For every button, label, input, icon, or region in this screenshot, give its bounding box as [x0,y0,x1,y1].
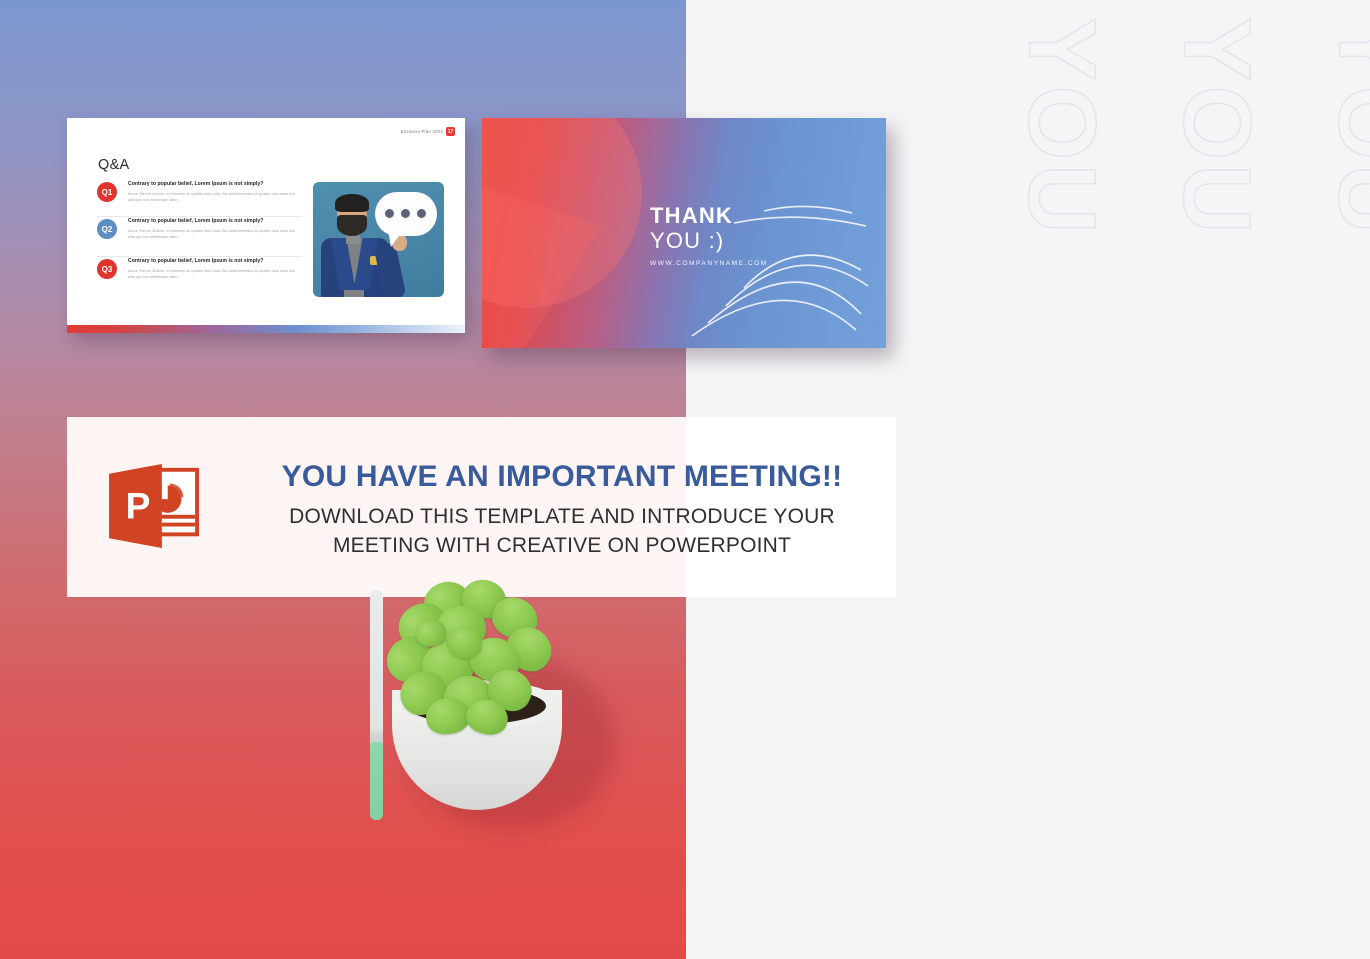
pen-grip [370,742,383,820]
qa-photo [313,182,444,297]
thank-you-line-2: YOU :) [650,229,768,254]
banner-subline-1: DOWNLOAD THIS TEMPLATE AND INTRODUCE YOU… [242,503,882,531]
qa-question: Contrary to popular belief, Lorem Ipsum … [128,258,303,264]
qa-body: Amus. Parum id amur, et hitomed us optat… [128,268,303,281]
watermark-text: THANK YOU [1161,0,1271,237]
qa-body: Amus. Parum id amur, et hitomed us optat… [128,191,303,204]
qa-slide-header: Business Plan 2023 17 [401,127,455,136]
qa-body: Amus. Parum id amur, et hitomed us optat… [128,228,303,241]
qa-item[interactable]: Q2 Contrary to popular belief, Lorem Ips… [97,216,302,253]
poster-stage: THANK YOU THANK YOU THANK YOU Business P… [0,0,1370,959]
banner-subline-2: MEETING WITH CREATIVE ON POWERPOINT [242,532,882,560]
qa-header-label: Business Plan 2023 [401,129,443,134]
hair [335,194,369,212]
thank-you-line-1: THANK [650,204,768,229]
qa-badge-q3: Q3 [97,259,117,279]
thank-you-slide[interactable]: THANK YOU :) WWW.COMPANYNAME.COM [482,118,886,348]
qa-badge-q2: Q2 [97,219,117,239]
qa-question: Contrary to popular belief, Lorem Ipsum … [128,218,303,224]
ellipsis-dots [385,209,426,218]
beard [337,215,367,236]
qa-slide[interactable]: Business Plan 2023 17 Q&A Q1 Contrary to… [67,118,465,333]
banner-text-block: YOU HAVE AN IMPORTANT MEETING!! DOWNLOAD… [242,459,882,560]
watermark-column-2: THANK YOU [1141,0,1291,959]
watermark-column-1: THANK YOU [986,0,1136,959]
svg-text:P: P [126,485,151,527]
watermark-text: THANK YOU [1316,0,1370,237]
qa-badge-q1: Q1 [97,182,117,202]
qa-question: Contrary to popular belief, Lorem Ipsum … [128,181,303,187]
qa-title: Q&A [98,157,130,173]
qa-bottom-gradient-bar [67,325,465,333]
qa-header-badge: 17 [446,127,455,136]
basil-leaves [378,580,578,740]
powerpoint-icon: P [107,462,205,550]
watermark-text: THANK YOU [1006,0,1116,237]
thank-you-text-block: THANK YOU :) WWW.COMPANYNAME.COM [650,204,768,267]
plant-photo [360,560,660,860]
company-url: WWW.COMPANYNAME.COM [650,260,768,267]
qa-item[interactable]: Q1 Contrary to popular belief, Lorem Ips… [97,180,302,213]
qa-item[interactable]: Q3 Contrary to popular belief, Lorem Ips… [97,256,302,293]
banner-headline: YOU HAVE AN IMPORTANT MEETING!! [242,459,882,494]
speech-bubble-icon [375,192,437,236]
watermark-column-3: THANK YOU [1296,0,1370,959]
qa-item-list: Q1 Contrary to popular belief, Lorem Ips… [97,180,302,296]
